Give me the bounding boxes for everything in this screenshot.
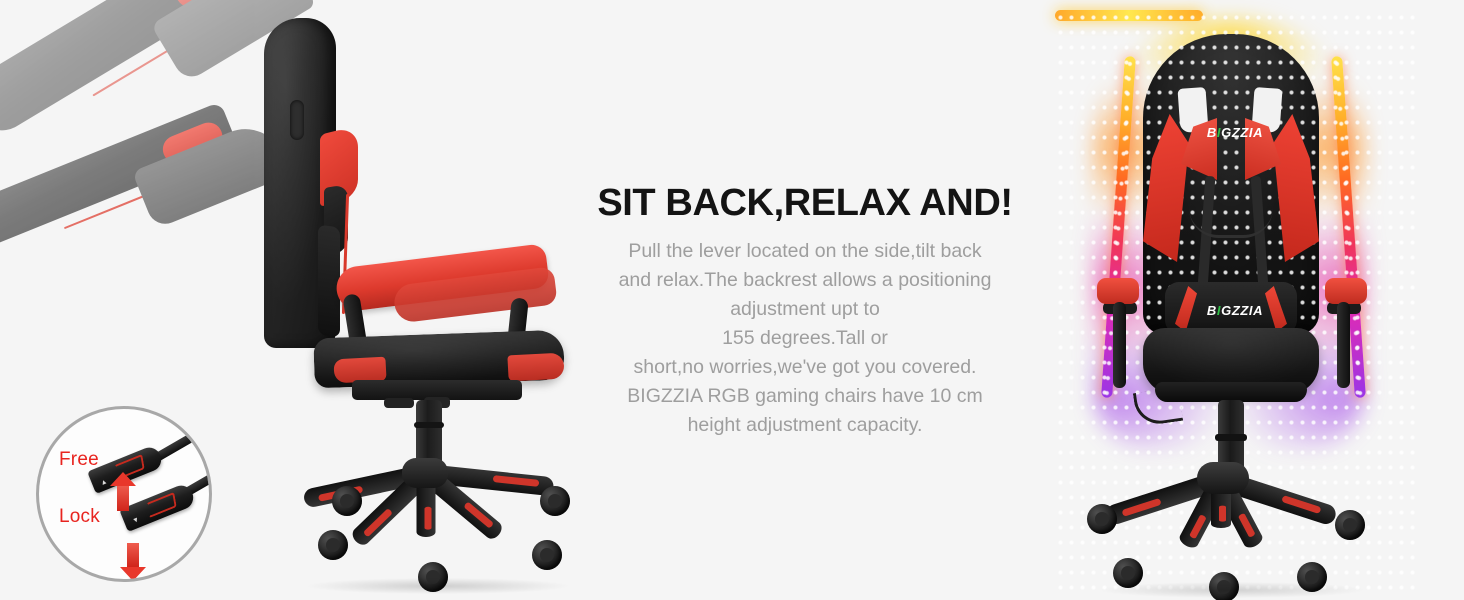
caster-wheel: [318, 530, 348, 560]
logo-part-rest: GZZIA: [1221, 125, 1263, 140]
logo-part-rest: GZZIA: [1221, 303, 1263, 318]
spoke-red-accent: [463, 501, 494, 528]
free-label: Free: [59, 449, 99, 471]
spoke-red-accent: [1219, 506, 1226, 522]
description-line: adjustment upt to: [555, 295, 1055, 324]
armrest-post-left: [1113, 302, 1126, 388]
caster-wheel: [532, 540, 562, 570]
gas-lift-collar: [1215, 434, 1247, 441]
product-banner: Free Lock ▲ ▼ SIT BACK,RELAX AND! Pull t…: [0, 0, 1464, 600]
description-line: Pull the lever located on the side,tilt …: [555, 237, 1055, 266]
lever-lock-free-badge: Free Lock ▲ ▼: [36, 406, 212, 582]
five-star-base: [296, 458, 576, 588]
lever-tick-icon: ▲: [99, 478, 108, 487]
description-line: height adjustment capacity.: [555, 411, 1055, 440]
caster-wheel: [1087, 504, 1117, 534]
brand-logo-backrest: BIGZZIA: [1055, 125, 1415, 140]
description-line: short,no worries,we've got you covered.: [555, 353, 1055, 382]
led-strip-top: [1055, 10, 1203, 21]
lever-handle-lock: ▼: [119, 482, 197, 532]
description-paragraph: Pull the lever located on the side,tilt …: [555, 237, 1055, 440]
description-line: and relax.The backrest allows a position…: [555, 266, 1055, 295]
lock-label: Lock: [59, 506, 100, 528]
base-hub: [402, 458, 448, 488]
logo-part-b: B: [1207, 125, 1217, 140]
caster-wheel: [332, 486, 362, 516]
armrest-pad-left: [1097, 278, 1139, 304]
description-line: 155 degrees.Tall or: [555, 324, 1055, 353]
spoke-red-accent: [1238, 513, 1256, 538]
spoke-red-accent: [493, 475, 540, 487]
spoke-red-accent: [1189, 514, 1207, 539]
chair-ground-shadow: [1101, 582, 1363, 598]
lever-glyph-icon: [146, 492, 176, 518]
arrow-down-icon: [127, 543, 139, 567]
headrest-slot: [290, 100, 304, 140]
spoke-red-accent: [425, 507, 432, 530]
gas-lift-collar: [414, 422, 444, 428]
caster-wheel: [1335, 510, 1365, 540]
chair-ground-shadow: [308, 578, 568, 594]
lever-tick-icon: ▼: [131, 516, 140, 525]
five-star-base: [1085, 462, 1377, 592]
armrest-pad-right: [1325, 278, 1367, 304]
rgb-chair-scene: BIGZZIA BIGZZIA: [1055, 10, 1415, 600]
logo-part-b: B: [1207, 303, 1217, 318]
spoke-red-accent: [1281, 495, 1321, 514]
description-line: BIGZZIA RGB gaming chairs have 10 cm: [555, 382, 1055, 411]
arrow-up-icon: [117, 485, 129, 511]
spoke-red-accent: [1121, 498, 1161, 517]
page-title: SIT BACK,RELAX AND!: [555, 182, 1055, 225]
armrest-post-right: [1337, 302, 1350, 388]
marketing-copy: SIT BACK,RELAX AND! Pull the lever locat…: [555, 182, 1055, 440]
base-hub: [1197, 462, 1249, 494]
spoke-red-accent: [363, 508, 393, 537]
caster-wheel: [540, 486, 570, 516]
tilt-lever: [384, 398, 414, 408]
